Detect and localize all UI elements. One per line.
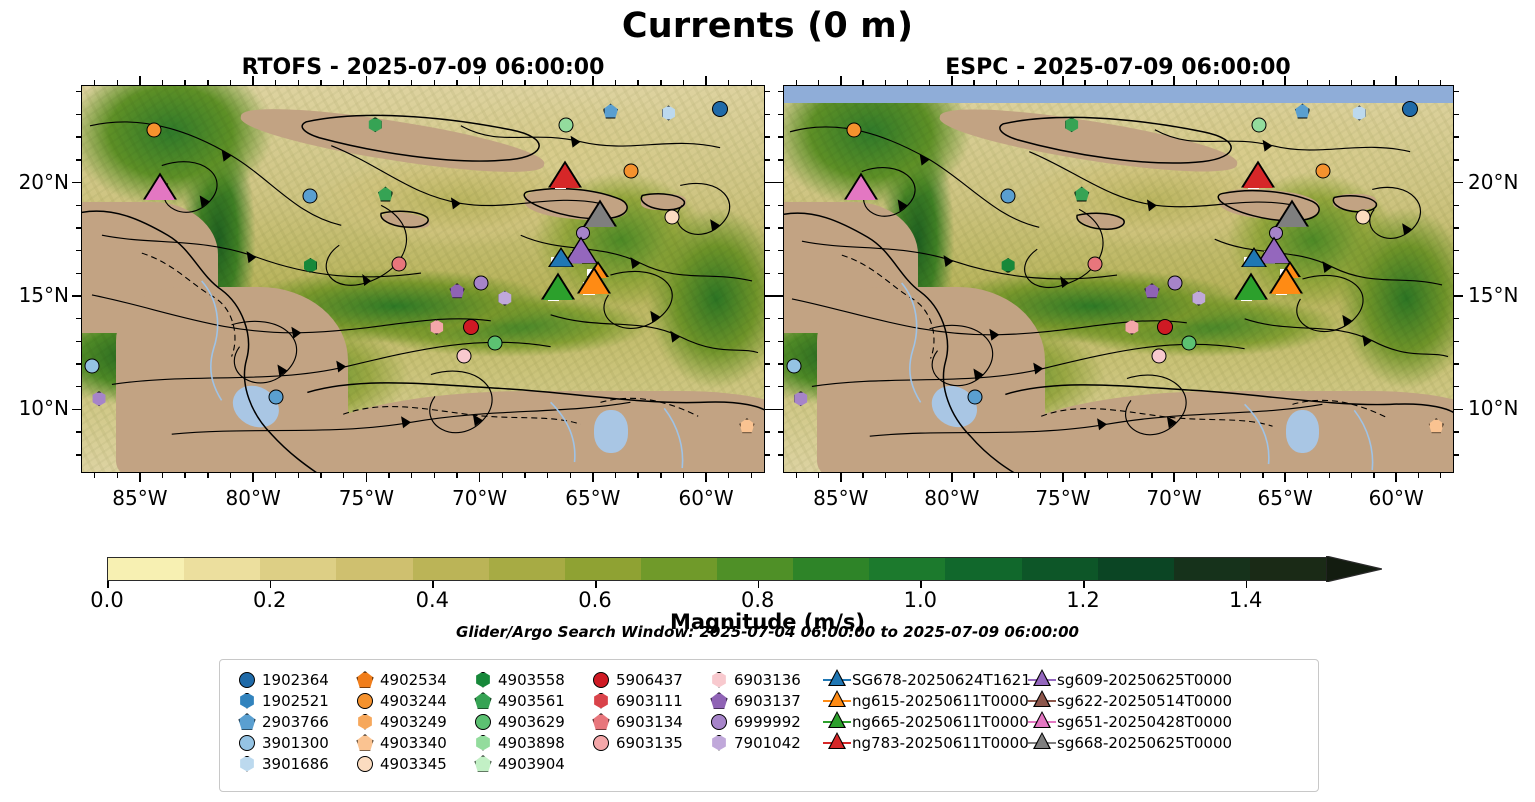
legend-marker-icon xyxy=(232,669,262,690)
lat-tick-minor xyxy=(76,159,81,160)
glider-marker[interactable] xyxy=(1236,276,1266,300)
glider-marker[interactable] xyxy=(585,203,615,227)
lat-tick-label: 15°N xyxy=(1468,283,1518,307)
legend-label: 6903135 xyxy=(616,734,683,752)
current-magnitude-field-espc xyxy=(784,86,1453,472)
lon-tick-minor xyxy=(1018,473,1019,478)
lon-tick-label: 65°W xyxy=(1245,486,1325,510)
lon-tick xyxy=(1395,473,1397,482)
current-magnitude-field-rtofs xyxy=(82,86,764,472)
lon-tick-minor xyxy=(1151,473,1152,478)
colorbar-band-2 xyxy=(260,558,336,580)
argo-float-marker[interactable] xyxy=(787,358,802,373)
argo-float-marker[interactable] xyxy=(664,210,679,225)
legend-label: 4903244 xyxy=(380,692,447,710)
legend-item[interactable]: sg651-20250428T0000 xyxy=(1027,711,1232,732)
lat-tick-minor xyxy=(765,205,770,206)
lon-tick-minor xyxy=(162,80,163,85)
page-title: Currents (0 m) xyxy=(0,6,1535,46)
lon-tick xyxy=(1284,76,1286,85)
lat-tick-minor xyxy=(765,159,770,160)
lon-tick-minor xyxy=(1373,80,1374,85)
argo-float-marker[interactable] xyxy=(624,163,639,178)
lon-tick-minor xyxy=(502,473,503,478)
lon-tick-minor xyxy=(456,473,457,478)
legend-label: 4903898 xyxy=(498,734,565,752)
colorbar-tick-label: 0.2 xyxy=(225,588,315,612)
argo-float-marker[interactable] xyxy=(1151,349,1166,364)
lat-tick-minor xyxy=(1454,250,1459,251)
glider-marker[interactable] xyxy=(579,270,609,294)
lat-tick xyxy=(1454,409,1463,411)
lat-tick-minor xyxy=(1454,363,1459,364)
legend-marker-icon xyxy=(232,732,262,753)
argo-float-marker[interactable] xyxy=(392,256,407,271)
legend-item[interactable]: sg668-20250625T0000 xyxy=(1027,732,1232,753)
lat-tick xyxy=(1454,182,1463,184)
lon-tick-minor xyxy=(929,80,930,85)
colorbar-band-6 xyxy=(565,558,641,580)
legend-label: sg668-20250625T0000 xyxy=(1057,734,1232,752)
lon-tick-minor xyxy=(885,473,886,478)
legend-item[interactable]: 2903766 xyxy=(232,711,350,732)
argo-float-marker[interactable] xyxy=(1168,275,1183,290)
colorbar-tick-label: 1.0 xyxy=(875,588,965,612)
lon-tick-minor xyxy=(388,80,389,85)
lat-tick-minor xyxy=(765,386,770,387)
lon-tick xyxy=(366,76,368,85)
glider-marker[interactable] xyxy=(550,250,572,267)
argo-float-marker[interactable] xyxy=(1315,163,1330,178)
map-panel-espc[interactable] xyxy=(783,85,1454,473)
legend-marker-icon xyxy=(350,669,380,690)
lon-tick-minor xyxy=(434,80,435,85)
colorbar xyxy=(107,557,1379,581)
legend-label: 6903134 xyxy=(616,713,683,731)
legend-item[interactable]: 1902364 xyxy=(232,669,350,690)
lon-tick-label: 60°W xyxy=(666,486,746,510)
lat-tick-minor xyxy=(76,227,81,228)
legend-label: 1902364 xyxy=(262,671,329,689)
lon-tick-label: 85°W xyxy=(100,486,180,510)
lat-tick xyxy=(774,295,783,297)
legend-item[interactable]: 6999992 xyxy=(704,711,822,732)
glider-marker[interactable] xyxy=(1243,250,1265,267)
lat-tick-minor xyxy=(778,250,783,251)
legend-marker-icon xyxy=(704,669,734,690)
legend-marker-icon xyxy=(468,669,498,690)
lat-tick-minor xyxy=(76,431,81,432)
colorbar-tick-label: 0.6 xyxy=(550,588,640,612)
legend-item[interactable]: ng615-20250611T0000 xyxy=(822,690,1027,711)
argo-float-marker[interactable] xyxy=(463,319,479,335)
lon-tick xyxy=(1062,473,1064,482)
lon-tick-minor xyxy=(615,473,616,478)
legend-column-glider-0: SG678-20250624T1621ng615-20250611T0000ng… xyxy=(822,669,1027,785)
lon-tick xyxy=(592,76,594,85)
lon-tick-minor xyxy=(660,80,661,85)
lat-tick-label: 20°N xyxy=(0,170,69,194)
legend-column-argo-4: 6903136690313769999927901042 xyxy=(704,669,822,785)
colorbar-tick xyxy=(270,581,272,588)
legend-label: 3901686 xyxy=(262,755,329,773)
legend-marker-icon xyxy=(232,711,262,732)
lat-tick-minor xyxy=(778,318,783,319)
colorbar-band-8 xyxy=(717,558,793,580)
lon-tick-minor xyxy=(434,473,435,478)
legend-label: 5906437 xyxy=(616,671,683,689)
lon-tick-minor xyxy=(1307,80,1308,85)
lon-tick-minor xyxy=(230,473,231,478)
lon-tick-minor xyxy=(547,80,548,85)
lat-tick-minor xyxy=(765,227,770,228)
colorbar-tick xyxy=(595,581,597,588)
lat-tick-minor xyxy=(765,136,770,137)
lon-tick-label: 85°W xyxy=(801,486,881,510)
colorbar-tick xyxy=(1083,581,1085,588)
lon-tick-minor xyxy=(796,80,797,85)
legend-item[interactable]: sg609-20250625T0000 xyxy=(1027,669,1232,690)
legend-glider-icon xyxy=(822,690,852,711)
legend-column-argo-3: 5906437690311169031346903135 xyxy=(586,669,704,785)
argo-float-marker[interactable] xyxy=(847,123,862,138)
lon-tick-minor xyxy=(411,80,412,85)
lon-tick-label: 75°W xyxy=(326,486,406,510)
lon-tick-minor xyxy=(996,473,997,478)
lon-tick xyxy=(951,473,953,482)
argo-float-marker[interactable] xyxy=(456,349,471,364)
lon-tick-minor xyxy=(343,80,344,85)
legend-glider-icon xyxy=(822,711,852,732)
lon-tick-minor xyxy=(1418,473,1419,478)
colorbar-band-10 xyxy=(869,558,945,580)
colorbar-extend-arrow xyxy=(1326,556,1382,582)
lon-tick-minor xyxy=(1351,80,1352,85)
legend-label: ng615-20250611T0000 xyxy=(852,692,1029,710)
lon-tick-label: 70°W xyxy=(1134,486,1214,510)
glider-marker[interactable] xyxy=(846,176,876,200)
legend-label: 4903561 xyxy=(498,692,565,710)
lon-tick xyxy=(705,76,707,85)
legend-item[interactable]: 6903136 xyxy=(704,669,822,690)
colorbar-band-14 xyxy=(1174,558,1250,580)
legend-item[interactable]: 4903904 xyxy=(468,753,586,774)
argo-float-marker[interactable] xyxy=(487,335,502,350)
lon-tick xyxy=(705,473,707,482)
lat-tick xyxy=(72,409,81,411)
legend-label: sg622-20250514T0000 xyxy=(1057,692,1232,710)
lon-tick-minor xyxy=(207,473,208,478)
colorbar-band-1 xyxy=(184,558,260,580)
colorbar-tick-label: 0.4 xyxy=(387,588,477,612)
legend: 1902364190252129037663901300390168649025… xyxy=(219,659,1319,792)
lat-tick-minor xyxy=(778,273,783,274)
lon-tick-minor xyxy=(885,80,886,85)
lon-tick xyxy=(840,473,842,482)
glider-marker[interactable] xyxy=(145,176,175,200)
lat-tick-minor xyxy=(1454,159,1459,160)
lon-tick-minor xyxy=(298,80,299,85)
lon-tick-minor xyxy=(320,80,321,85)
legend-item[interactable]: 3901686 xyxy=(232,753,350,774)
lat-tick-minor xyxy=(1454,205,1459,206)
lon-tick-minor xyxy=(117,80,118,85)
lon-tick-minor xyxy=(570,473,571,478)
lat-tick-minor xyxy=(1454,136,1459,137)
lon-tick-minor xyxy=(1240,80,1241,85)
lat-tick-minor xyxy=(76,386,81,387)
lon-tick-minor xyxy=(117,473,118,478)
legend-glider-icon xyxy=(1027,732,1057,753)
legend-item[interactable]: sg622-20250514T0000 xyxy=(1027,690,1232,711)
legend-item[interactable]: ng783-20250611T0000 xyxy=(822,732,1027,753)
argo-float-marker[interactable] xyxy=(303,189,318,204)
legend-marker-icon xyxy=(468,753,498,774)
lon-tick-minor xyxy=(1373,473,1374,478)
argo-float-marker[interactable] xyxy=(1251,117,1266,132)
lat-tick-minor xyxy=(76,91,81,92)
colorbar-tick xyxy=(107,581,109,588)
lon-tick-minor xyxy=(456,80,457,85)
legend-item[interactable]: 7901042 xyxy=(704,732,822,753)
legend-label: 3901300 xyxy=(262,734,329,752)
lat-tick xyxy=(765,295,774,297)
colorbar-tick xyxy=(1246,581,1248,588)
argo-float-marker[interactable] xyxy=(1355,210,1370,225)
lon-tick-label: 80°W xyxy=(912,486,992,510)
colorbar-tick xyxy=(920,581,922,588)
lat-tick-minor xyxy=(1454,318,1459,319)
colorbar-tick xyxy=(432,581,434,588)
lat-tick-minor xyxy=(778,431,783,432)
argo-float-marker[interactable] xyxy=(559,117,574,132)
legend-item[interactable]: 3901300 xyxy=(232,732,350,753)
colorbar-band-9 xyxy=(793,558,869,580)
lat-tick-minor xyxy=(765,273,770,274)
legend-label: 6903137 xyxy=(734,692,801,710)
legend-item[interactable]: 4903629 xyxy=(468,711,586,732)
lon-tick xyxy=(840,76,842,85)
legend-marker-icon xyxy=(468,690,498,711)
lon-tick-minor xyxy=(1218,80,1219,85)
argo-float-marker[interactable] xyxy=(473,275,488,290)
legend-column-argo-0: 19023641902521290376639013003901686 xyxy=(232,669,350,785)
legend-item[interactable]: 5906437 xyxy=(586,669,704,690)
legend-marker-icon xyxy=(586,732,616,753)
lon-tick-minor xyxy=(615,80,616,85)
argo-float-marker[interactable] xyxy=(1088,256,1103,271)
lat-tick xyxy=(72,295,81,297)
colorbar-tick xyxy=(758,581,760,588)
lon-tick-minor xyxy=(929,473,930,478)
lon-tick xyxy=(252,76,254,85)
lon-tick xyxy=(592,473,594,482)
legend-item[interactable]: ng665-20250611T0000 xyxy=(822,711,1027,732)
lon-tick-minor xyxy=(1440,80,1441,85)
search-window-subtitle: Glider/Argo Search Window: 2025-07-04 06… xyxy=(0,623,1535,641)
lat-tick-minor xyxy=(765,114,770,115)
legend-item[interactable]: 1902521 xyxy=(232,690,350,711)
lon-tick-label: 60°W xyxy=(1356,486,1436,510)
lat-tick-minor xyxy=(1454,91,1459,92)
lon-tick xyxy=(479,76,481,85)
lon-tick xyxy=(1395,76,1397,85)
lon-tick-minor xyxy=(162,473,163,478)
lon-tick-minor xyxy=(184,473,185,478)
argo-float-marker[interactable] xyxy=(146,123,161,138)
lon-tick xyxy=(139,76,141,85)
lat-tick-minor xyxy=(765,250,770,251)
legend-glider-icon xyxy=(1027,690,1057,711)
lon-tick-minor xyxy=(1040,80,1041,85)
lon-tick xyxy=(1173,473,1175,482)
legend-label: 4903345 xyxy=(380,755,447,773)
glider-marker[interactable] xyxy=(550,164,580,188)
legend-item[interactable]: 6903111 xyxy=(586,690,704,711)
lon-tick-minor xyxy=(502,80,503,85)
lon-tick-minor xyxy=(1418,80,1419,85)
legend-item[interactable]: 4903340 xyxy=(350,732,468,753)
lon-tick-minor xyxy=(907,473,908,478)
lon-tick-minor xyxy=(1084,80,1085,85)
lon-tick-minor xyxy=(1018,80,1019,85)
argo-float-marker[interactable] xyxy=(1402,101,1418,117)
legend-label: 6903111 xyxy=(616,692,683,710)
panel-title-espc: ESPC - 2025-07-09 06:00:00 xyxy=(782,55,1454,80)
lon-tick-minor xyxy=(1129,473,1130,478)
lat-tick-label: 10°N xyxy=(1468,396,1518,420)
colorbar-band-13 xyxy=(1098,558,1174,580)
legend-item[interactable]: 4903558 xyxy=(468,669,586,690)
legend-label: 2903766 xyxy=(262,713,329,731)
lon-tick xyxy=(951,76,953,85)
legend-item[interactable]: 6903134 xyxy=(586,711,704,732)
lon-tick xyxy=(1173,76,1175,85)
colorbar-gradient xyxy=(107,557,1327,581)
lon-tick-minor xyxy=(1329,473,1330,478)
legend-label: ng665-20250611T0000 xyxy=(852,713,1029,731)
colorbar-band-12 xyxy=(1022,558,1098,580)
lon-tick-minor xyxy=(862,80,863,85)
lon-tick-minor xyxy=(388,473,389,478)
lat-tick-minor xyxy=(765,341,770,342)
legend-marker-icon xyxy=(232,690,262,711)
glider-marker[interactable] xyxy=(1271,270,1301,294)
lat-tick-minor xyxy=(76,363,81,364)
lon-tick-minor xyxy=(728,473,729,478)
legend-item[interactable]: 4903244 xyxy=(350,690,468,711)
colorbar-band-11 xyxy=(945,558,1021,580)
argo-float-marker[interactable] xyxy=(269,389,284,404)
lon-tick-minor xyxy=(275,80,276,85)
lon-tick-minor xyxy=(683,80,684,85)
argo-float-marker[interactable] xyxy=(1001,189,1016,204)
lat-tick-minor xyxy=(778,205,783,206)
glider-marker[interactable] xyxy=(543,276,573,300)
lat-tick-minor xyxy=(778,136,783,137)
argo-float-marker[interactable] xyxy=(1157,319,1173,335)
map-panel-rtofs[interactable] xyxy=(81,85,765,473)
lon-tick-label: 70°W xyxy=(440,486,520,510)
colorbar-tick-label: 1.2 xyxy=(1038,588,1128,612)
legend-marker-icon xyxy=(350,711,380,732)
lon-tick-minor xyxy=(1262,80,1263,85)
lon-tick-minor xyxy=(728,80,729,85)
colorbar-band-4 xyxy=(413,558,489,580)
lon-tick-label: 65°W xyxy=(553,486,633,510)
legend-marker-icon xyxy=(704,732,734,753)
argo-float-marker[interactable] xyxy=(712,101,728,117)
legend-item[interactable]: 6903137 xyxy=(704,690,822,711)
legend-label: 4903904 xyxy=(498,755,565,773)
lon-tick-minor xyxy=(1196,473,1197,478)
legend-label: 4903249 xyxy=(380,713,447,731)
lon-tick-minor xyxy=(94,473,95,478)
lon-tick-minor xyxy=(973,80,974,85)
legend-label: 4902534 xyxy=(380,671,447,689)
lat-tick-minor xyxy=(76,273,81,274)
lat-tick-minor xyxy=(765,363,770,364)
lon-tick-minor xyxy=(996,80,997,85)
lon-tick-minor xyxy=(547,473,548,478)
lon-tick-minor xyxy=(298,473,299,478)
legend-item[interactable]: 4903249 xyxy=(350,711,468,732)
legend-item[interactable]: 6903135 xyxy=(586,732,704,753)
legend-label: 1902521 xyxy=(262,692,329,710)
legend-marker-icon xyxy=(468,732,498,753)
lon-tick-minor xyxy=(1040,473,1041,478)
argo-float-marker[interactable] xyxy=(967,389,982,404)
legend-item[interactable]: 4902534 xyxy=(350,669,468,690)
legend-label: 7901042 xyxy=(734,734,801,752)
legend-item[interactable]: 4903561 xyxy=(468,690,586,711)
map-vectors-rtofs xyxy=(82,86,764,472)
legend-item[interactable]: SG678-20250624T1621 xyxy=(822,669,1027,690)
legend-column-glider-1: sg609-20250625T0000sg622-20250514T0000sg… xyxy=(1027,669,1232,785)
colorbar-tick-label: 0.0 xyxy=(62,588,152,612)
glider-marker[interactable] xyxy=(1277,203,1307,227)
lon-tick xyxy=(366,473,368,482)
colorbar-tick-label: 0.8 xyxy=(713,588,803,612)
glider-marker[interactable] xyxy=(1243,164,1273,188)
lat-tick-minor xyxy=(1454,227,1459,228)
lat-tick-minor xyxy=(778,386,783,387)
lon-tick-minor xyxy=(1107,473,1108,478)
argo-float-marker[interactable] xyxy=(1181,335,1196,350)
legend-item[interactable]: 4903345 xyxy=(350,753,468,774)
colorbar-band-0 xyxy=(108,558,184,580)
lat-tick-label: 10°N xyxy=(0,396,69,420)
legend-glider-icon xyxy=(822,669,852,690)
lon-tick-minor xyxy=(1329,80,1330,85)
lon-tick-minor xyxy=(1440,473,1441,478)
lat-tick-minor xyxy=(76,114,81,115)
colorbar-band-3 xyxy=(336,558,412,580)
lat-tick-minor xyxy=(1454,114,1459,115)
legend-label: sg609-20250625T0000 xyxy=(1057,671,1232,689)
lon-tick-label: 75°W xyxy=(1023,486,1103,510)
lon-tick-minor xyxy=(230,80,231,85)
lon-tick-minor xyxy=(796,473,797,478)
lat-tick-minor xyxy=(778,159,783,160)
colorbar-band-15 xyxy=(1250,558,1326,580)
legend-item[interactable]: 4903898 xyxy=(468,732,586,753)
argo-float-marker[interactable] xyxy=(85,358,100,373)
lon-tick-minor xyxy=(343,473,344,478)
lon-tick-minor xyxy=(637,473,638,478)
lat-tick-minor xyxy=(76,341,81,342)
legend-label: ng783-20250611T0000 xyxy=(852,734,1029,752)
